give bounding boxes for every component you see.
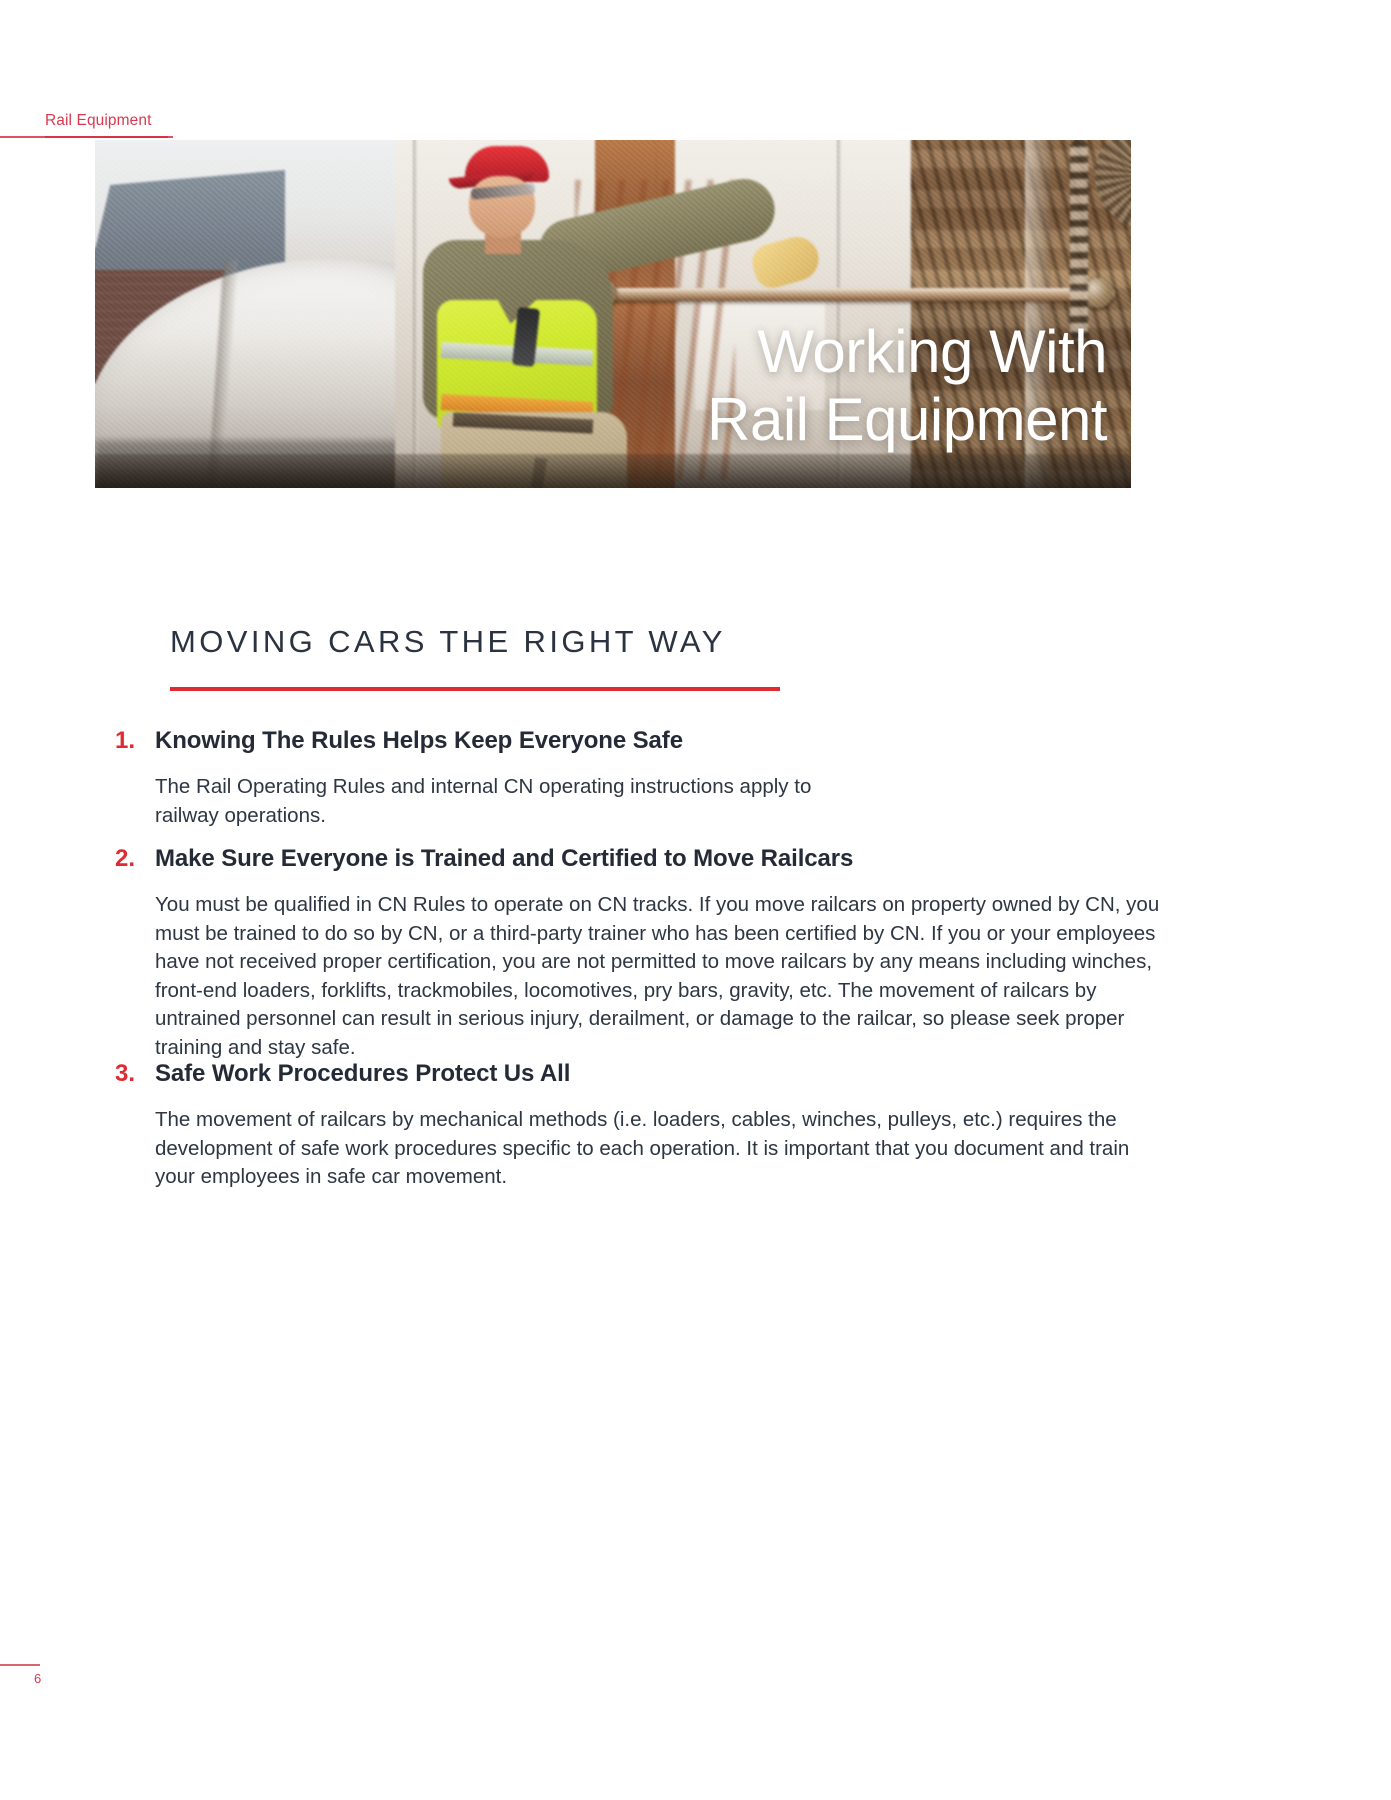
hero-banner: Working With Rail Equipment [95,140,1131,488]
list-item-body: The movement of railcars by mechanical m… [155,1106,1140,1192]
page-number: 6 [34,1671,41,1686]
section-heading: MOVING CARS THE RIGHT WAY [170,624,726,660]
list-item-number: 3. [115,1060,153,1088]
list-item-heading: Make Sure Everyone is Trained and Certif… [155,845,853,873]
document-page: Rail Equipment [0,0,1391,1800]
hero-title: Working With Rail Equipment [347,318,1107,455]
list-item-number: 2. [115,845,153,873]
list-item-heading: Safe Work Procedures Protect Us All [155,1060,570,1088]
running-header: Rail Equipment [0,112,600,142]
running-header-underline [45,136,168,138]
section-heading-rule [170,687,780,691]
running-header-label: Rail Equipment [45,112,152,130]
list-item-number: 1. [115,727,153,755]
list-item-body: The Rail Operating Rules and internal CN… [155,773,875,830]
hero-title-line-1: Working With [347,318,1107,386]
footer-rule [0,1664,40,1666]
hero-title-line-2: Rail Equipment [347,386,1107,454]
list-item-heading: Knowing The Rules Helps Keep Everyone Sa… [155,727,683,755]
list-item-body: You must be qualified in CN Rules to ope… [155,891,1160,1062]
hero-undercarriage-shadow [95,454,1131,488]
hero-chain [1070,140,1088,340]
